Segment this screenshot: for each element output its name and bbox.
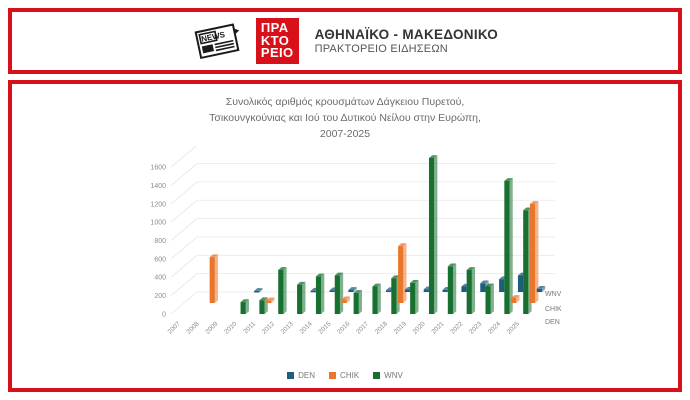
series-tag-WNV: WNV bbox=[545, 291, 562, 298]
x-axis-labels: 2007200820092010201120122013201420152016… bbox=[167, 320, 522, 335]
svg-text:1000: 1000 bbox=[150, 220, 166, 227]
agency-logo-box: ΠΡΑ ΚΤΟ ΡΕΙΟ bbox=[256, 18, 299, 64]
x-tick-2022: 2022 bbox=[449, 320, 464, 335]
newspaper-icon: NEWS bbox=[192, 20, 244, 62]
chart-title: Συνολικός αριθμός κρουσμάτων Δάγκειου Πυ… bbox=[209, 94, 481, 142]
x-tick-2007: 2007 bbox=[167, 320, 182, 335]
header-frame: NEWS ΠΡΑ ΚΤΟ ΡΕΙΟ ΑΘΗΝΑΪΚΟ - ΜΑΚΕΔΟΝΙΚΟ … bbox=[8, 8, 682, 74]
legend-swatch-DEN bbox=[287, 372, 294, 379]
svg-text:1600: 1600 bbox=[150, 165, 166, 172]
legend-label-WNV: WNV bbox=[384, 371, 403, 380]
bar-WNV-2010 bbox=[241, 299, 249, 314]
series-tag-CHIK: CHIK bbox=[545, 306, 562, 313]
chart-title-line-2: Τσικουνγκούνιας και Ιού του Δυτικού Νείλ… bbox=[209, 110, 481, 126]
svg-text:800: 800 bbox=[154, 238, 166, 245]
bar-WNV-2015 bbox=[335, 273, 343, 314]
grid-lines bbox=[171, 146, 555, 314]
bar-WNV-2016 bbox=[354, 290, 362, 314]
chart-panel: Συνολικός αριθμός κρουσμάτων Δάγκειου Πυ… bbox=[12, 84, 678, 388]
bars-group bbox=[210, 155, 546, 314]
bar-WNV-2012 bbox=[278, 267, 286, 314]
bar-CHIK-2018 bbox=[398, 243, 406, 303]
chart-legend: DENCHIKWNV bbox=[287, 371, 403, 380]
brand-title: ΑΘΗΝΑΪΚΟ - ΜΑΚΕΔΟΝΙΚΟ bbox=[315, 27, 499, 42]
legend-swatch-CHIK bbox=[329, 372, 336, 379]
x-tick-2017: 2017 bbox=[355, 320, 370, 335]
legend-label-DEN: DEN bbox=[298, 371, 315, 380]
series-tags: WNVCHIKDEN bbox=[545, 291, 562, 326]
x-tick-2016: 2016 bbox=[336, 320, 351, 335]
x-tick-2013: 2013 bbox=[280, 320, 295, 335]
legend-item-CHIK[interactable]: CHIK bbox=[329, 371, 359, 380]
svg-text:1400: 1400 bbox=[150, 183, 166, 190]
brand-text: ΑΘΗΝΑΪΚΟ - ΜΑΚΕΔΟΝΙΚΟ ΠΡΑΚΤΟΡΕΙΟ ΕΙΔΗΣΕΩ… bbox=[315, 27, 499, 55]
header-content: NEWS ΠΡΑ ΚΤΟ ΡΕΙΟ ΑΘΗΝΑΪΚΟ - ΜΑΚΕΔΟΝΙΚΟ … bbox=[12, 12, 678, 70]
bar-WNV-2014 bbox=[316, 274, 324, 314]
x-tick-2020: 2020 bbox=[412, 320, 427, 335]
x-tick-2011: 2011 bbox=[242, 320, 257, 335]
bar-WNV-2013 bbox=[297, 282, 305, 314]
chart-frame: Συνολικός αριθμός κρουσμάτων Δάγκειου Πυ… bbox=[8, 80, 682, 392]
svg-text:600: 600 bbox=[154, 256, 166, 263]
legend-item-WNV[interactable]: WNV bbox=[373, 371, 403, 380]
y-axis-labels: 02004006008001000120014001600 bbox=[150, 165, 166, 319]
x-tick-2024: 2024 bbox=[487, 320, 502, 335]
legend-item-DEN[interactable]: DEN bbox=[287, 371, 315, 380]
bar-WNV-2022 bbox=[467, 267, 475, 314]
logo-line-3: ΡΕΙΟ bbox=[261, 47, 294, 60]
x-tick-2015: 2015 bbox=[317, 320, 332, 335]
bar-chart-3d: 0200400600800100012001400160020072008200… bbox=[125, 146, 565, 361]
bar-WNV-2019 bbox=[410, 280, 418, 314]
legend-swatch-WNV bbox=[373, 372, 380, 379]
bar-WNV-2024 bbox=[504, 178, 512, 314]
x-tick-2019: 2019 bbox=[393, 320, 408, 335]
screenshot-root: NEWS ΠΡΑ ΚΤΟ ΡΕΙΟ ΑΘΗΝΑΪΚΟ - ΜΑΚΕΔΟΝΙΚΟ … bbox=[0, 0, 690, 400]
x-tick-2025: 2025 bbox=[506, 320, 521, 335]
x-tick-2012: 2012 bbox=[261, 320, 276, 335]
bar-WNV-2017 bbox=[372, 284, 380, 314]
x-tick-2009: 2009 bbox=[204, 320, 219, 335]
bar-WNV-2023 bbox=[485, 284, 493, 314]
brand-subtitle: ΠΡΑΚΤΟΡΕΙΟ ΕΙΔΗΣΕΩΝ bbox=[315, 43, 499, 55]
series-tag-DEN: DEN bbox=[545, 319, 560, 326]
bar-WNV-2020 bbox=[429, 155, 437, 314]
x-tick-2010: 2010 bbox=[223, 320, 238, 335]
x-tick-2014: 2014 bbox=[299, 320, 314, 335]
bar-CHIK-2008 bbox=[210, 254, 218, 303]
legend-label-CHIK: CHIK bbox=[340, 371, 359, 380]
svg-text:200: 200 bbox=[154, 293, 166, 300]
svg-text:1200: 1200 bbox=[150, 201, 166, 208]
plot-area: 0200400600800100012001400160020072008200… bbox=[125, 146, 565, 361]
svg-text:0: 0 bbox=[162, 311, 166, 318]
x-tick-2008: 2008 bbox=[185, 320, 200, 335]
bar-WNV-2011 bbox=[259, 297, 267, 314]
bar-WNV-2021 bbox=[448, 263, 456, 314]
x-tick-2021: 2021 bbox=[430, 320, 445, 335]
bar-CHIK-2025 bbox=[530, 201, 538, 303]
chart-title-line-1: Συνολικός αριθμός κρουσμάτων Δάγκειου Πυ… bbox=[209, 94, 481, 110]
x-tick-2023: 2023 bbox=[468, 320, 483, 335]
svg-text:400: 400 bbox=[154, 275, 166, 282]
chart-title-line-3: 2007-2025 bbox=[209, 126, 481, 142]
x-tick-2018: 2018 bbox=[374, 320, 389, 335]
